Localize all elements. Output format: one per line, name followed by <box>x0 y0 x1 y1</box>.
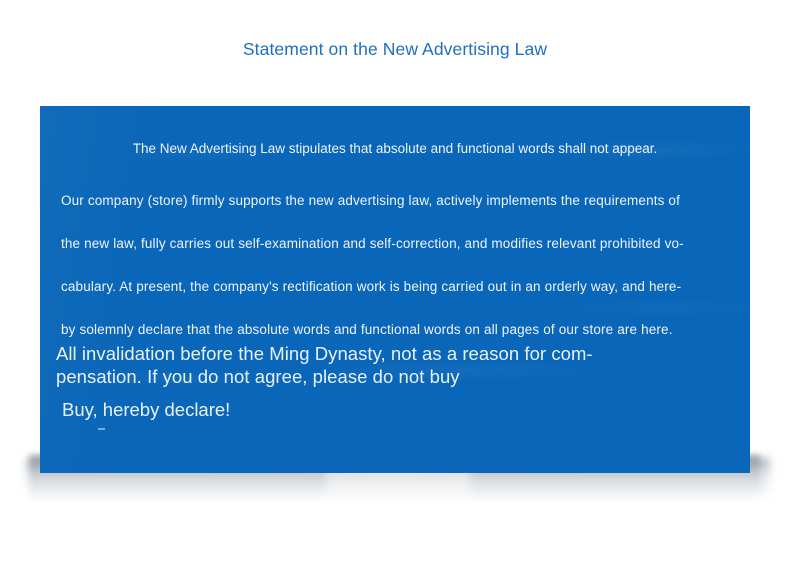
statement-lead-line: The New Advertising Law stipulates that … <box>40 139 750 159</box>
stray-mark <box>98 428 105 430</box>
statement-panel: The New Advertising Law stipulates that … <box>40 106 750 473</box>
statement-panel-body: The New Advertising Law stipulates that … <box>40 106 750 473</box>
statement-body-paragraph: Our company (store) firmly supports the … <box>61 179 729 351</box>
statement-emphasis-paragraph: All invalidation before the Ming Dynasty… <box>56 342 736 388</box>
page-title: Statement on the New Advertising Law <box>0 36 790 62</box>
statement-body-line: Our company (store) firmly supports the … <box>61 179 729 222</box>
statement-emphasis-line: pensation. If you do not agree, please d… <box>56 365 736 388</box>
statement-body-line: cabulary. At present, the company's rect… <box>61 265 729 308</box>
statement-closing-line: Buy, hereby declare! <box>62 398 230 421</box>
page-root: Statement on the New Advertising Law The… <box>0 0 790 562</box>
statement-body-line: the new law, fully carries out self-exam… <box>61 222 729 265</box>
statement-emphasis-line: All invalidation before the Ming Dynasty… <box>56 342 736 365</box>
